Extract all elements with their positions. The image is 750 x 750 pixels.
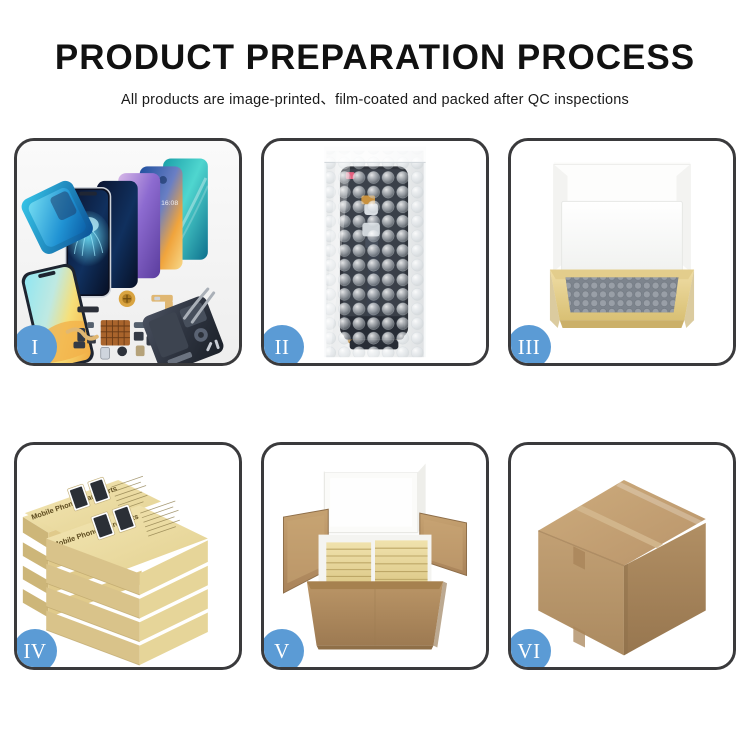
step-badge-4: IV	[14, 629, 57, 670]
process-step-4: Mobile Phone Spare Parts	[14, 442, 242, 670]
spare-parts-display-illustration: 16:08	[17, 141, 239, 363]
process-step-grid: 16:08	[14, 138, 736, 670]
step-badge-2: II	[261, 325, 304, 366]
infographic-page: PRODUCT PREPARATION PROCESS All products…	[0, 0, 750, 750]
stacked-retail-boxes-illustration: Mobile Phone Spare Parts	[17, 445, 239, 667]
page-title: PRODUCT PREPARATION PROCESS	[0, 0, 750, 78]
carton-with-foam-liner-illustration	[264, 445, 486, 667]
step-badge-6: VI	[508, 629, 551, 670]
sealed-shipping-carton-illustration	[511, 445, 733, 667]
step-badge-5: V	[261, 629, 304, 670]
process-step-1: 16:08	[14, 138, 242, 366]
svg-text:16:08: 16:08	[161, 200, 178, 207]
header: PRODUCT PREPARATION PROCESS All products…	[0, 0, 750, 109]
step-badge-1: I	[14, 325, 57, 366]
process-step-2: II	[261, 138, 489, 366]
bubble-wrapped-screen-illustration	[264, 141, 486, 363]
process-step-5: V	[261, 442, 489, 670]
process-step-6: VI	[508, 442, 736, 670]
step-badge-3: III	[508, 325, 551, 366]
page-subtitle: All products are image-printed、film-coat…	[0, 78, 750, 109]
foam-lined-inner-box-illustration	[511, 141, 733, 363]
process-step-3: III	[508, 138, 736, 366]
